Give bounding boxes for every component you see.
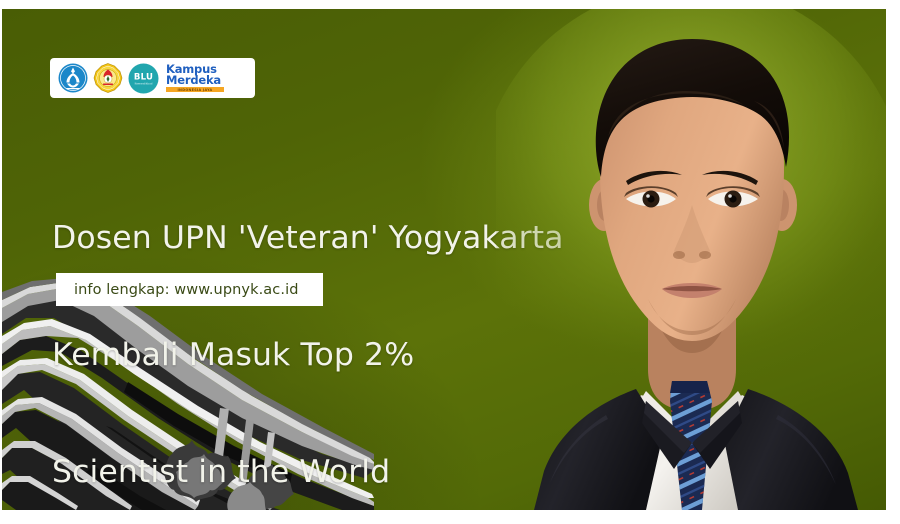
kampus-merdeka-tagline: INDONESIA JAYA (178, 88, 213, 92)
upn-veteran-logo (93, 63, 123, 93)
portrait-illustration (496, 9, 886, 510)
info-url-bar[interactable]: info lengkap: www.upnyk.ac.id (56, 273, 323, 306)
headline-line-1: Dosen UPN 'Veteran' Yogyakarta (52, 219, 564, 258)
blu-logo: BLU Kemendikbud (128, 63, 159, 94)
kampus-merdeka-line2: Merdeka (166, 75, 224, 86)
kampus-merdeka-logo: Kampus Merdeka INDONESIA JAYA (166, 64, 224, 93)
lecturer-portrait (496, 9, 886, 510)
institution-logo-badge: BLU Kemendikbud Kampus Merdeka INDONESIA… (50, 58, 255, 98)
kampus-merdeka-tagline-bar: INDONESIA JAYA (166, 87, 224, 92)
svg-text:Kemendikbud: Kemendikbud (135, 81, 153, 85)
headline-line-2: Kembali Masuk Top 2% (52, 336, 564, 375)
page-title: Dosen UPN 'Veteran' Yogyakarta Kembali M… (52, 141, 564, 510)
tut-wuri-handayani-logo (58, 63, 88, 93)
announcement-banner: BLU Kemendikbud Kampus Merdeka INDONESIA… (2, 9, 886, 510)
headline-line-3: Scientist in the World (52, 453, 564, 492)
svg-text:BLU: BLU (134, 72, 153, 82)
info-url-text: info lengkap: www.upnyk.ac.id (74, 282, 299, 298)
